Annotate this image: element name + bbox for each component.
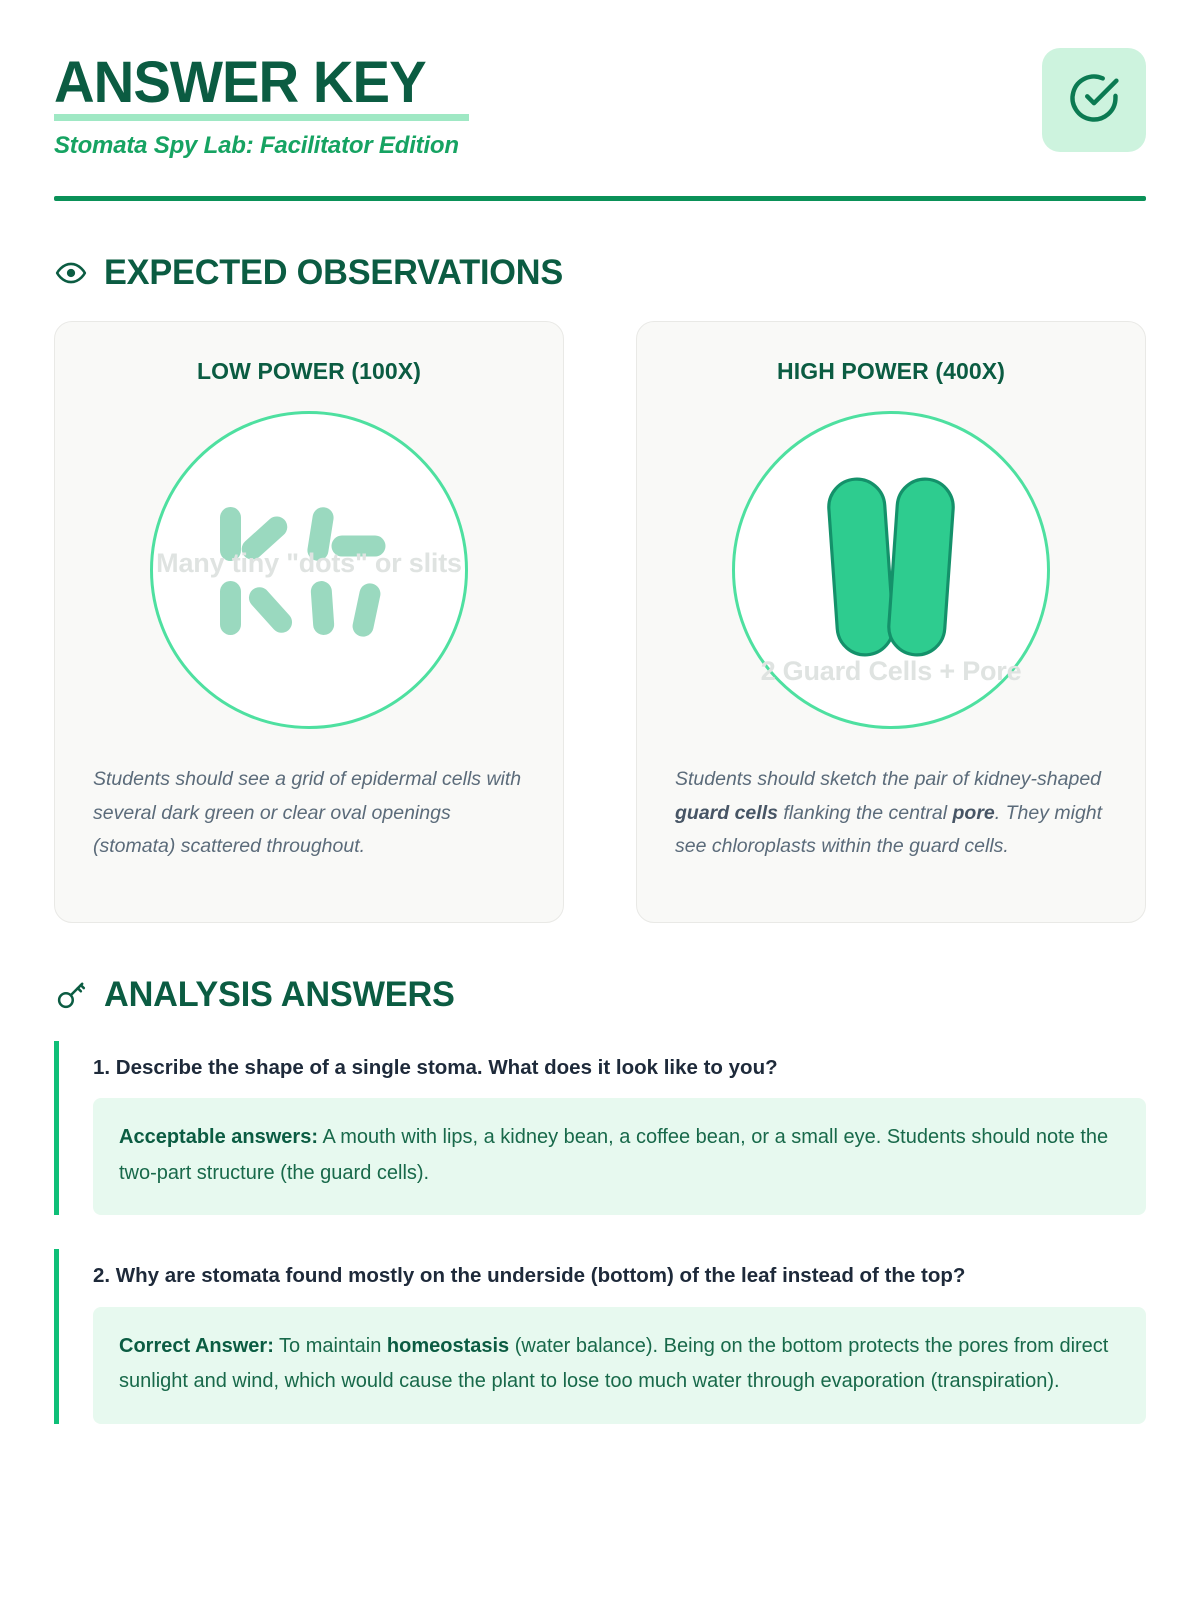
answer-label: Acceptable answers:: [119, 1126, 318, 1148]
header-divider: [54, 196, 1146, 201]
high-power-card-note: Students should sketch the pair of kidne…: [675, 763, 1107, 864]
guard-cell-right: [887, 477, 955, 656]
answer-box: Correct Answer: To maintain homeostasis …: [93, 1307, 1146, 1424]
answer-key-page: ANSWER KEY Stomata Spy Lab: Facilitator …: [0, 0, 1200, 1600]
answer-box: Acceptable answers: A mouth with lips, a…: [93, 1098, 1146, 1215]
eye-icon: [54, 256, 88, 290]
guard-cell-left: [827, 477, 895, 656]
analysis-section-header: ANALYSIS ANSWERS: [54, 975, 1146, 1015]
answer-body-segment: To maintain: [274, 1335, 387, 1357]
observation-card-low-power: LOW POWER (100X) Many tiny "dots" or sli…: [54, 321, 564, 923]
key-icon: [54, 978, 88, 1012]
note-text-segment: flanking the central: [778, 802, 953, 824]
stoma-slit: [220, 581, 241, 635]
high-power-card-title: HIGH POWER (400X): [675, 358, 1107, 385]
stoma-slit: [351, 581, 383, 638]
observation-cards: LOW POWER (100X) Many tiny "dots" or sli…: [54, 321, 1146, 923]
note-text-segment: Students should sketch the pair of kidne…: [675, 768, 1101, 790]
stoma-slit: [310, 580, 335, 635]
analysis-section-title: ANALYSIS ANSWERS: [104, 975, 455, 1015]
answer-text: Correct Answer: To maintain homeostasis …: [119, 1329, 1120, 1400]
stoma-slit: [245, 583, 297, 637]
answer-bold-homeostasis: homeostasis: [387, 1335, 509, 1357]
qa-item-2: 2. Why are stomata found mostly on the u…: [54, 1249, 1146, 1423]
page-subtitle: Stomata Spy Lab: Facilitator Edition: [54, 132, 469, 160]
qa-item-1: 1. Describe the shape of a single stoma.…: [54, 1041, 1146, 1215]
observations-section-title: EXPECTED OBSERVATIONS: [104, 253, 563, 293]
page-header: ANSWER KEY Stomata Spy Lab: Facilitator …: [54, 0, 1146, 160]
low-power-card-note: Students should see a grid of epidermal …: [93, 763, 525, 864]
page-title: ANSWER KEY: [54, 54, 426, 112]
header-title-block: ANSWER KEY Stomata Spy Lab: Facilitator …: [54, 48, 469, 160]
observations-section-header: EXPECTED OBSERVATIONS: [54, 253, 1146, 293]
analysis-answers-list: 1. Describe the shape of a single stoma.…: [54, 1041, 1146, 1424]
low-power-microscope-view: Many tiny "dots" or slits: [150, 411, 468, 729]
note-bold-guard-cells: guard cells: [675, 802, 778, 824]
answer-label: Correct Answer:: [119, 1335, 274, 1357]
high-power-scope-label: 2 Guard Cells + Pore: [732, 656, 1050, 687]
answer-text: Acceptable answers: A mouth with lips, a…: [119, 1120, 1120, 1191]
low-power-scope-label: Many tiny "dots" or slits: [150, 548, 468, 579]
observation-card-high-power: HIGH POWER (400X) 2 Guard Cells + Pore S…: [636, 321, 1146, 923]
high-power-microscope-view: 2 Guard Cells + Pore: [732, 411, 1050, 729]
low-power-card-title: LOW POWER (100X): [93, 358, 525, 385]
note-bold-pore: pore: [953, 802, 995, 824]
guard-cells-svg: [811, 467, 971, 667]
title-underline: [54, 114, 469, 121]
answer-key-stamp: [1042, 48, 1146, 152]
question-text: 1. Describe the shape of a single stoma.…: [93, 1041, 1146, 1098]
question-text: 2. Why are stomata found mostly on the u…: [93, 1249, 1146, 1306]
guard-cells-figure: [732, 467, 1050, 667]
check-circle-icon: [1066, 70, 1122, 131]
